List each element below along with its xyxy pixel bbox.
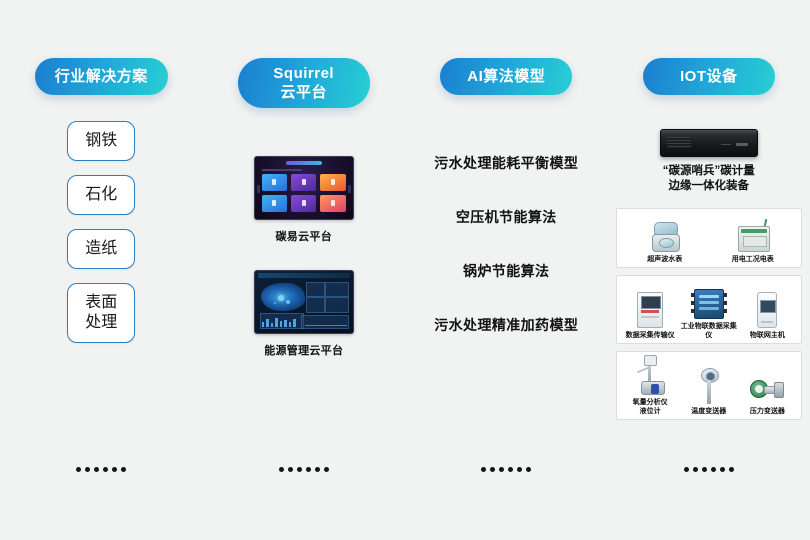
iot-device-panel: “碳源哨兵”碳计量 边缘一体化装备 超声波水表 用电工况 [613, 129, 805, 420]
flagship-device-caption: “碳源哨兵”碳计量 边缘一体化装备 [663, 164, 755, 194]
platform-carbon-cloud[interactable]: 碳易云平台 [254, 156, 354, 244]
device-label-line2: 液位计 [633, 407, 668, 416]
header-pill-industry-solutions[interactable]: 行业解决方案 [35, 58, 168, 95]
device-row: 数据采集传输仪 工业物联数据采集仪 物联网主机 [616, 275, 802, 344]
more-dots-industry [76, 467, 126, 472]
rack-server-icon [660, 129, 758, 157]
algorithm-item-boiler[interactable]: 锅炉节能算法 [463, 261, 549, 281]
industry-card-surface-treatment-line1: 表面 [72, 293, 130, 313]
industry-card-steel[interactable]: 钢铁 [67, 121, 135, 161]
device-label: 压力变送器 [750, 407, 785, 416]
flagship-caption-line2: 边缘一体化装备 [663, 179, 755, 194]
column-iot-devices: IOT设备 “碳源哨兵”碳计量 边缘一体化装备 超声波水表 [608, 0, 810, 540]
solution-architecture-diagram: 行业解决方案 钢铁 石化 造纸 表面 处理 Squirrel 云平台 [0, 0, 810, 540]
device-row-group: 超声波水表 用电工况电表 数据采集传输仪 [616, 208, 802, 420]
device-ultrasonic-water-meter[interactable]: 超声波水表 [635, 214, 695, 264]
ultrasonic-water-meter-icon [652, 214, 678, 252]
device-label: 工业物联数据采集仪 [679, 322, 738, 340]
device-row: 超声波水表 用电工况电表 [616, 208, 802, 268]
dashboard-panel [306, 297, 325, 313]
dashboard-tile [262, 195, 287, 212]
device-label-line1: 氧量分析仪 [633, 398, 668, 407]
dashboard-tile [262, 174, 287, 191]
more-dots-platforms [279, 467, 329, 472]
dashboard-tile [320, 174, 345, 191]
dashboard-panel [325, 297, 349, 313]
industrial-iot-gateway-icon [694, 281, 724, 319]
oxygen-analyzer-icon [635, 357, 665, 395]
column-industry-solutions: 行业解决方案 钢铁 石化 造纸 表面 处理 [0, 0, 203, 540]
device-power-meter[interactable]: 用电工况电表 [723, 214, 783, 264]
more-dots-algorithms [481, 467, 531, 472]
dashboard-title-bar [286, 161, 322, 165]
device-oxygen-analyzer[interactable]: 氧量分析仪 液位计 [621, 357, 680, 416]
more-dots-iot [684, 467, 734, 472]
dashboard-map-visual [261, 283, 305, 311]
device-industrial-iot-gateway[interactable]: 工业物联数据采集仪 [679, 281, 738, 340]
algorithm-list: 污水处理能耗平衡模型 空压机节能算法 锅炉节能算法 污水处理精准加药模型 [434, 153, 578, 335]
dashboard-subtitle-line [262, 169, 302, 171]
platform-caption-energy-management: 能源管理云平台 [264, 342, 343, 358]
platform-thumbnail-list: 碳易云平台 [254, 156, 354, 358]
dashboard-panel [325, 282, 349, 297]
dashboard-tile [291, 174, 316, 191]
platform-caption-carbon-cloud: 碳易云平台 [276, 228, 333, 244]
header-pill-ai-algorithms[interactable]: AI算法模型 [440, 58, 572, 95]
pressure-transmitter-icon [750, 366, 784, 404]
device-label: 用电工况电表 [732, 255, 774, 264]
device-iot-host[interactable]: 物联网主机 [738, 290, 797, 340]
dashboard-left-nav [257, 185, 260, 193]
algorithm-item-air-compressor[interactable]: 空压机节能算法 [456, 207, 557, 227]
header-pill-squirrel-cloud[interactable]: Squirrel 云平台 [238, 58, 370, 108]
device-label: 数据采集传输仪 [626, 331, 675, 340]
carbon-cloud-dashboard-screenshot [254, 156, 354, 220]
header-pill-iot-devices[interactable]: IOT设备 [643, 58, 775, 95]
dashboard-tile [320, 195, 345, 212]
device-label: 氧量分析仪 液位计 [633, 398, 668, 416]
column-squirrel-cloud-platform: Squirrel 云平台 [203, 0, 406, 540]
header-pill-squirrel-line1: Squirrel [260, 64, 348, 83]
header-pill-squirrel-line2: 云平台 [260, 83, 348, 102]
dashboard-tile [291, 195, 316, 212]
industry-card-surface-treatment-line2: 处理 [72, 313, 130, 333]
dashboard-panel [306, 282, 325, 297]
device-row: 氧量分析仪 液位计 温度变送器 压力变送器 [616, 351, 802, 420]
energy-management-dashboard-screenshot [254, 270, 354, 334]
platform-energy-management[interactable]: 能源管理云平台 [254, 270, 354, 358]
device-temperature-transmitter[interactable]: 温度变送器 [679, 366, 738, 416]
industry-card-papermaking[interactable]: 造纸 [67, 229, 135, 269]
industry-card-surface-treatment[interactable]: 表面 处理 [67, 283, 135, 343]
data-acquisition-terminal-icon [637, 290, 663, 328]
iot-host-icon [757, 290, 777, 328]
algorithm-item-wastewater-dosing[interactable]: 污水处理精准加药模型 [434, 315, 578, 335]
dashboard-bar-chart [262, 317, 296, 327]
dashboard-right-nav [348, 185, 351, 193]
column-ai-algorithm-models: AI算法模型 污水处理能耗平衡模型 空压机节能算法 锅炉节能算法 污水处理精准加… [405, 0, 608, 540]
device-label: 温度变送器 [691, 407, 726, 416]
device-label: 超声波水表 [647, 255, 682, 264]
device-data-acquisition-terminal[interactable]: 数据采集传输仪 [621, 290, 680, 340]
power-meter-icon [738, 214, 768, 252]
flagship-caption-line1: “碳源哨兵”碳计量 [663, 164, 755, 179]
device-label: 物联网主机 [750, 331, 785, 340]
algorithm-item-wastewater-energy-balance[interactable]: 污水处理能耗平衡模型 [434, 153, 578, 173]
industry-card-list: 钢铁 石化 造纸 表面 处理 [67, 121, 135, 343]
industry-card-petrochemical[interactable]: 石化 [67, 175, 135, 215]
dashboard-tile-grid [262, 174, 346, 212]
dashboard-line-chart [305, 319, 347, 326]
temperature-transmitter-icon [701, 366, 717, 404]
dashboard-header-bar [258, 273, 350, 278]
device-pressure-transmitter[interactable]: 压力变送器 [738, 366, 797, 416]
